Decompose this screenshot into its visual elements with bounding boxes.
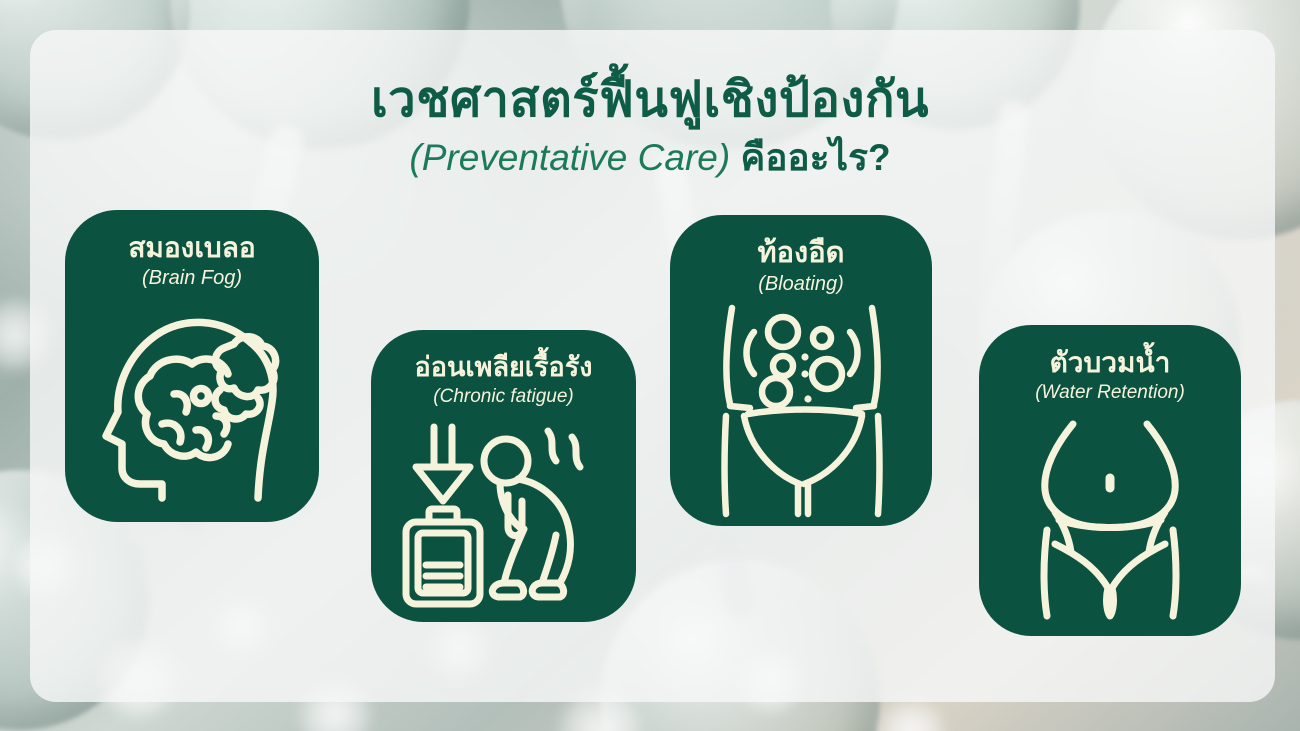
symptom-card-water-retention[interactable]: ตัวบวมน้ำ (Water Retention)	[979, 325, 1241, 636]
symptom-card-brain-fog[interactable]: สมองเบลอ (Brain Fog)	[65, 210, 319, 522]
page-title-block: เวชศาสตร์ฟื้นฟูเชิงป้องกัน (Preventative…	[0, 72, 1300, 180]
card-subtitle: (Water Retention)	[1035, 381, 1185, 405]
swollen-torso-icon	[979, 405, 1241, 636]
card-title: ตัวบวมน้ำ	[1050, 347, 1171, 379]
card-title: สมองเบลอ	[128, 232, 255, 264]
card-title: ท้องอืด	[758, 237, 845, 270]
infographic-canvas: เวชศาสตร์ฟื้นฟูเชิงป้องกัน (Preventative…	[0, 0, 1300, 731]
page-subtitle-english: (Preventative Care)	[409, 137, 730, 178]
card-subtitle: (Brain Fog)	[142, 266, 242, 291]
symptom-card-bloating[interactable]: ท้องอืด (Bloating)	[670, 215, 932, 526]
page-title: เวชศาสตร์ฟื้นฟูเชิงป้องกัน	[0, 72, 1300, 130]
card-title: อ่อนเพลียเรื้อรัง	[415, 352, 593, 383]
head-brain-fog-icon	[65, 291, 319, 522]
card-subtitle: (Bloating)	[758, 272, 844, 297]
card-subtitle: (Chronic fatigue)	[433, 385, 573, 409]
low-battery-tired-person-icon	[371, 409, 636, 622]
symptom-card-chronic-fatigue[interactable]: อ่อนเพลียเรื้อรัง (Chronic fatigue)	[371, 330, 636, 622]
page-subtitle-thai: คืออะไร?	[740, 137, 890, 178]
page-subtitle: (Preventative Care) คืออะไร?	[0, 136, 1300, 180]
bloated-abdomen-bubbles-icon	[670, 297, 932, 526]
